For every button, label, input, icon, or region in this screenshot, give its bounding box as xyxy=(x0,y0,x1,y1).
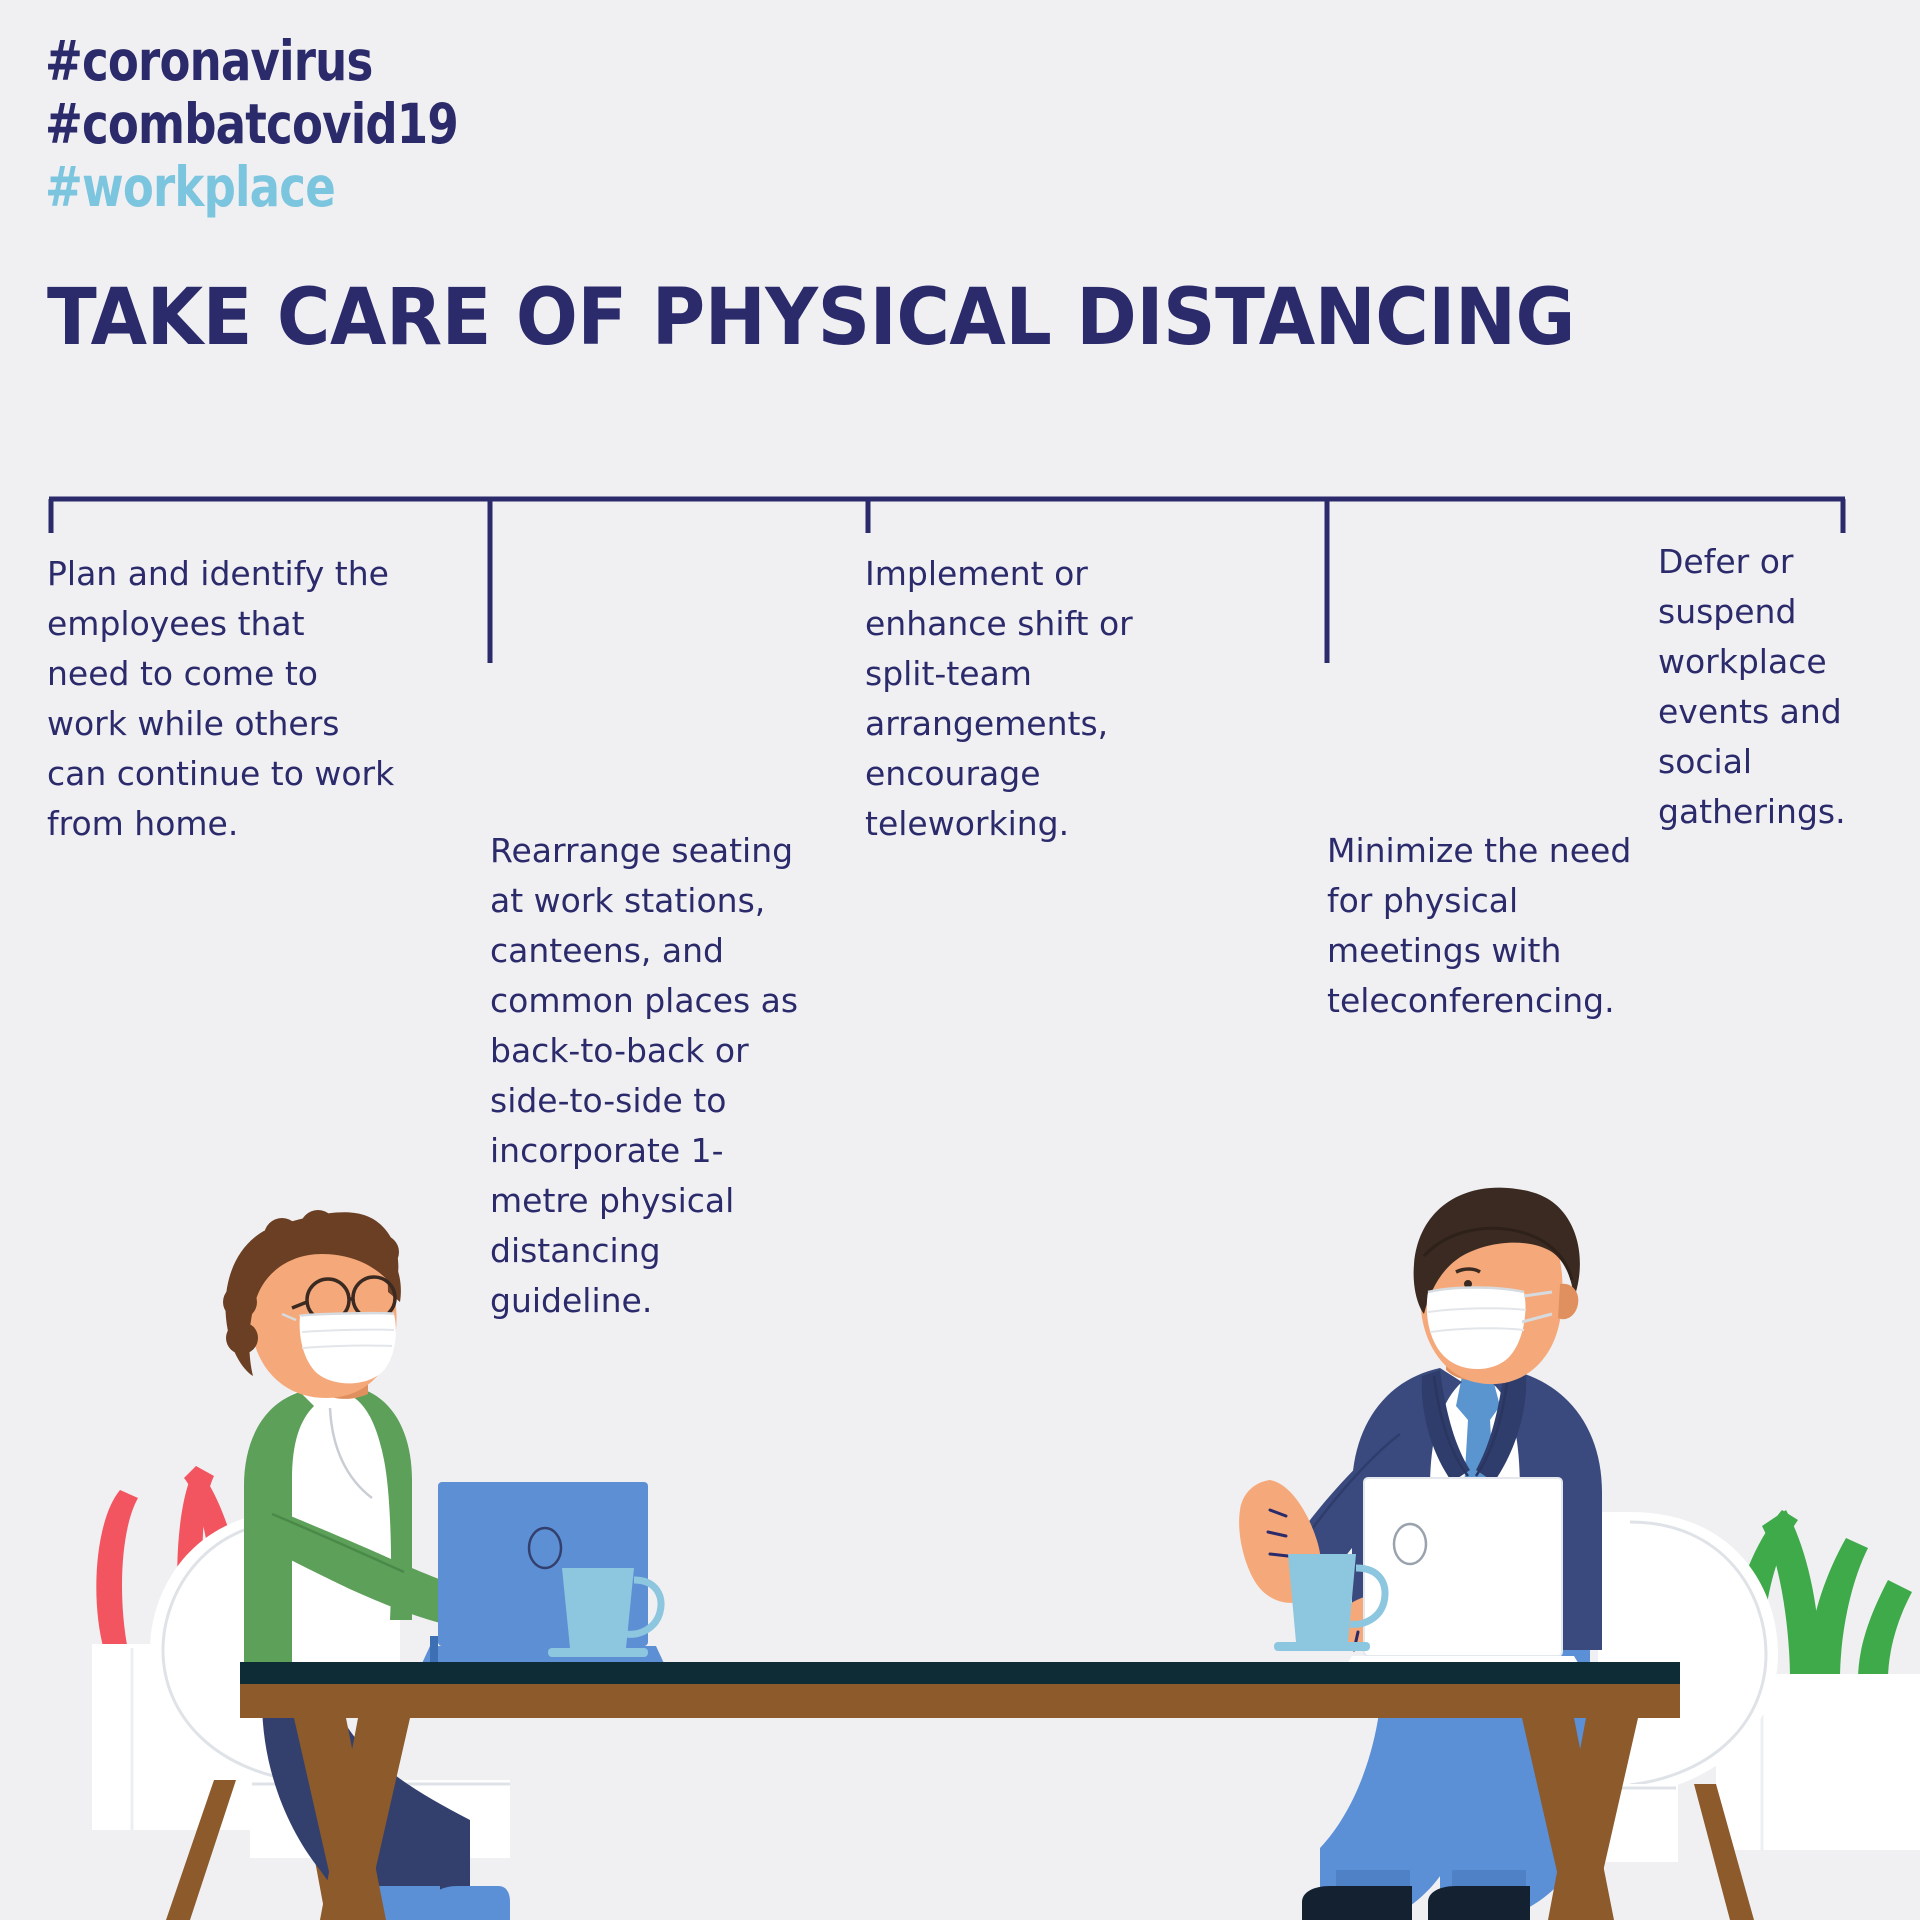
column-shift-arrangements: Implement or enhance shift or split-team… xyxy=(865,549,1195,849)
hashtag-group: #coronavirus #combatcovid19 #workplace xyxy=(45,34,549,215)
page-title: TAKE CARE OF PHYSICAL DISTANCING xyxy=(47,277,1575,359)
distancing-illustration xyxy=(0,1180,1920,1920)
column-teleconferencing: Minimize the need for physical meetings … xyxy=(1327,826,1647,1026)
infographic-canvas: #coronavirus #combatcovid19 #workplace T… xyxy=(0,0,1920,1920)
column-defer-events: Defer or suspend workplace events and so… xyxy=(1658,537,1908,837)
hashtag-workplace: #workplace xyxy=(45,160,458,215)
column-plan-identify: Plan and identify the employees that nee… xyxy=(47,549,397,849)
hashtag-combatcovid19: #combatcovid19 xyxy=(45,97,458,152)
hashtag-coronavirus: #coronavirus xyxy=(45,34,458,89)
